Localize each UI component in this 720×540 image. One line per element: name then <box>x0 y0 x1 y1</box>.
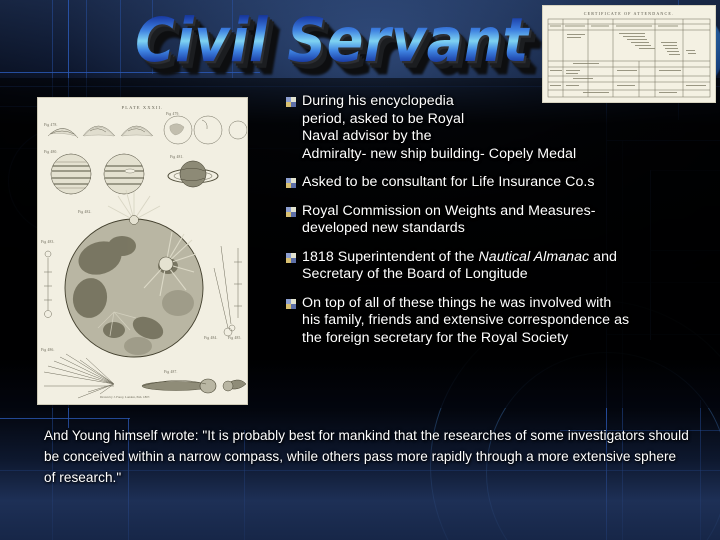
astronomical-plate-image: PLATE XXXII. <box>37 97 248 405</box>
plate-figure-label: Fig 485. <box>228 336 242 340</box>
slide-title-text: Civil Servant <box>82 6 582 75</box>
slide-title: Civil Servant Civil Servant <box>82 10 582 76</box>
list-item: 1818 Superintendent of the Nautical Alma… <box>286 249 708 284</box>
plate-figure-label: Fig 480. <box>44 150 58 154</box>
list-item: On top of all of these things he was inv… <box>286 295 708 348</box>
bullet-line: Asked to be consultant for Life Insuranc… <box>302 174 595 190</box>
bullet-line: Naval advisor by the <box>302 128 432 144</box>
bullet-line-post: and <box>589 249 617 265</box>
quote-text: And Young himself wrote: "It is probably… <box>44 425 690 488</box>
cube-bullet-icon <box>286 97 296 107</box>
bullet-line: his family, friends and extensive corres… <box>302 312 629 328</box>
bullet-line: Admiralty- new ship building- Copely Med… <box>302 146 576 162</box>
bullet-line: the foreign secretary for the Royal Soci… <box>302 330 568 346</box>
list-item: Royal Commission on Weights and Measures… <box>286 203 708 238</box>
plate-figure-label: Fig 481. <box>170 155 184 159</box>
plate-figure-label: Fig 483. <box>41 240 55 244</box>
list-item: Asked to be consultant for Life Insuranc… <box>286 174 708 192</box>
plate-figure-label: Fig 484. <box>204 336 218 340</box>
bullet-line-pre: 1818 Superintendent of the <box>302 249 478 265</box>
bullet-text: 1818 Superintendent of the Nautical Alma… <box>302 249 617 284</box>
bullet-line: On top of all of these things he was inv… <box>302 295 611 311</box>
bullet-line-italic: Nautical Almanac <box>478 249 589 265</box>
plate-figure-label: Fig 482. <box>78 210 92 214</box>
bullet-text: On top of all of these things he was inv… <box>302 295 629 348</box>
list-item: During his encyclopedia period, asked to… <box>286 93 708 163</box>
certificate-image: CERTIFICATE OF ATTENDANCE. <box>542 5 716 103</box>
bullet-list: During his encyclopedia period, asked to… <box>286 93 708 358</box>
plate-engraving-graphic <box>38 98 247 404</box>
plate-figure-label: Fig 487. <box>164 370 178 374</box>
cube-bullet-icon <box>286 207 296 217</box>
plate-figure-label: Fig 486. <box>41 348 55 352</box>
plate-credit: Drawn by J. Farey, London, Pub. 1807. <box>100 395 150 399</box>
cube-bullet-icon <box>286 178 296 188</box>
plate-figure-label: Fig 479. <box>166 112 180 116</box>
cube-bullet-icon <box>286 253 296 263</box>
bullet-line: developed new standards <box>302 220 465 236</box>
bullet-line: During his encyclopedia <box>302 93 454 109</box>
bullet-line: period, asked to be Royal <box>302 111 464 127</box>
presentation-slide: Civil Servant Civil Servant PLATE XXXII. <box>0 0 720 540</box>
cube-bullet-icon <box>286 299 296 309</box>
bullet-text: Asked to be consultant for Life Insuranc… <box>302 174 595 192</box>
bullet-text: During his encyclopedia period, asked to… <box>302 93 576 163</box>
bullet-line: Royal Commission on Weights and Measures… <box>302 203 596 219</box>
bullet-line: Secretary of the Board of Longitude <box>302 266 528 282</box>
certificate-table-graphic <box>543 6 715 102</box>
plate-figure-label: Fig 478. <box>44 123 58 127</box>
bullet-text: Royal Commission on Weights and Measures… <box>302 203 596 238</box>
